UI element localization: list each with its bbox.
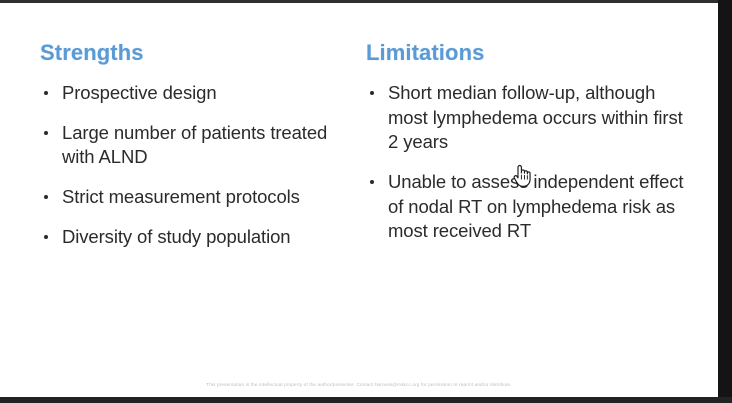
bullet-list-strengths: Prospective design Large number of patie… <box>40 81 358 249</box>
bullet-dot-icon <box>44 195 48 199</box>
list-item: Strict measurement protocols <box>40 185 358 210</box>
slide-footer: This presentation is the intellectual pr… <box>0 373 718 391</box>
list-item: Large number of patients treated with AL… <box>40 121 358 170</box>
column-strengths: Strengths Prospective design Large numbe… <box>40 41 358 249</box>
bullet-dot-icon <box>44 91 48 95</box>
video-player-frame[interactable]: Strengths Prospective design Large numbe… <box>0 0 732 403</box>
list-item-text: Strict measurement protocols <box>62 186 300 207</box>
list-item-text: Prospective design <box>62 82 217 103</box>
column-limitations: Limitations Short median follow-up, alth… <box>366 41 696 244</box>
list-item: Short median follow-up, although most ly… <box>366 81 696 155</box>
heading-limitations: Limitations <box>366 41 696 65</box>
heading-strengths: Strengths <box>40 41 358 65</box>
list-item: Unable to assess independent effect of n… <box>366 170 696 244</box>
bullet-dot-icon <box>370 180 374 184</box>
list-item-text: Short median follow-up, although most ly… <box>388 82 683 152</box>
slide-content-area: Strengths Prospective design Large numbe… <box>0 3 718 363</box>
bullet-dot-icon <box>44 235 48 239</box>
bottom-letterbox-bar <box>0 397 732 403</box>
bullet-dot-icon <box>44 131 48 135</box>
list-item: Diversity of study population <box>40 225 358 250</box>
list-item-text: Diversity of study population <box>62 226 290 247</box>
footer-disclaimer-text: This presentation is the intellectual pr… <box>206 382 511 388</box>
right-letterbox-bar <box>718 0 732 403</box>
bullet-list-limitations: Short median follow-up, although most ly… <box>366 81 696 244</box>
list-item-text: Unable to assess independent effect of n… <box>388 171 683 241</box>
bullet-dot-icon <box>370 91 374 95</box>
list-item: Prospective design <box>40 81 358 106</box>
presentation-slide: Strengths Prospective design Large numbe… <box>0 3 718 397</box>
list-item-text: Large number of patients treated with AL… <box>62 122 327 168</box>
